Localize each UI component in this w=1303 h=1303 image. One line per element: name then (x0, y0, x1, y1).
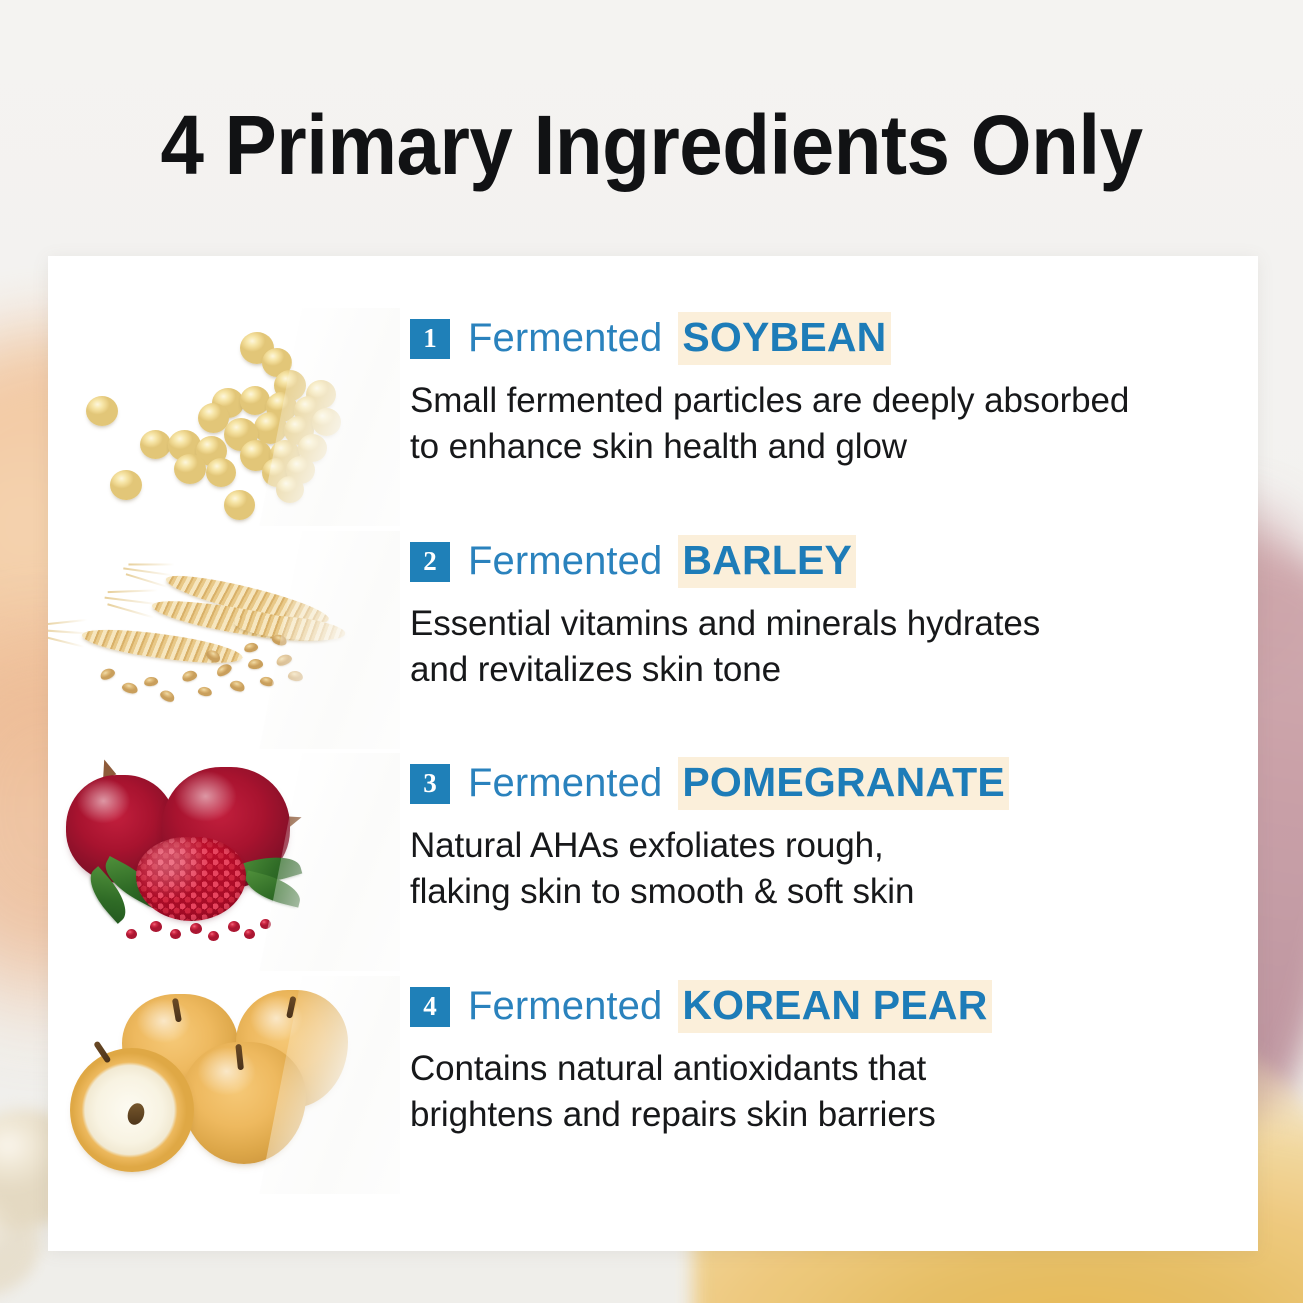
description-line-1: Essential vitamins and minerals hydrates (410, 601, 1258, 647)
ingredient-text-soybean: 1 Fermented SOYBEAN Small fermented part… (400, 308, 1258, 469)
ingredient-prefix: Fermented (468, 316, 662, 361)
ingredient-text-barley: 2 Fermented BARLEY Essential vitamins an… (400, 531, 1258, 692)
pomegranate-photo (48, 753, 400, 971)
ingredient-description: Contains natural antioxidants that brigh… (410, 1046, 1258, 1137)
ingredient-name: SOYBEAN (678, 312, 890, 365)
ingredient-name: POMEGRANATE (678, 757, 1009, 810)
ingredient-row-barley: 2 Fermented BARLEY Essential vitamins an… (48, 531, 1258, 749)
ingredient-row-soybean: 1 Fermented SOYBEAN Small fermented part… (48, 308, 1258, 526)
ingredients-card: 1 Fermented SOYBEAN Small fermented part… (48, 256, 1258, 1251)
page-title: 4 Primary Ingredients Only (46, 103, 1258, 187)
ingredient-number-badge: 1 (410, 319, 450, 359)
ingredient-row-korean-pear: 4 Fermented KOREAN PEAR Contains natural… (48, 976, 1258, 1194)
description-line-2: flaking skin to smooth & soft skin (410, 869, 1258, 915)
ingredient-number-badge: 2 (410, 542, 450, 582)
ingredient-heading: 1 Fermented SOYBEAN (410, 312, 1258, 365)
ingredient-name: BARLEY (678, 535, 856, 588)
ingredient-number-badge: 3 (410, 764, 450, 804)
korean-pear-photo (48, 976, 400, 1194)
description-line-2: to enhance skin health and glow (410, 424, 1258, 470)
description-line-2: and revitalizes skin tone (410, 647, 1258, 693)
ingredient-heading: 3 Fermented POMEGRANATE (410, 757, 1258, 810)
description-line-1: Small fermented particles are deeply abs… (410, 378, 1258, 424)
ingredient-text-pomegranate: 3 Fermented POMEGRANATE Natural AHAs exf… (400, 753, 1258, 914)
description-line-1: Contains natural antioxidants that (410, 1046, 1258, 1092)
ingredient-prefix: Fermented (468, 761, 662, 806)
ingredients-poster: 4 Primary Ingredients Only (0, 0, 1303, 1303)
ingredient-description: Small fermented particles are deeply abs… (410, 378, 1258, 469)
description-line-1: Natural AHAs exfoliates rough, (410, 823, 1258, 869)
ingredient-text-korean-pear: 4 Fermented KOREAN PEAR Contains natural… (400, 976, 1258, 1137)
description-line-2: brightens and repairs skin barriers (410, 1092, 1258, 1138)
ingredient-prefix: Fermented (468, 539, 662, 584)
ingredient-heading: 2 Fermented BARLEY (410, 535, 1258, 588)
ingredient-row-pomegranate: 3 Fermented POMEGRANATE Natural AHAs exf… (48, 753, 1258, 971)
ingredient-number-badge: 4 (410, 987, 450, 1027)
ingredient-description: Essential vitamins and minerals hydrates… (410, 601, 1258, 692)
ingredient-description: Natural AHAs exfoliates rough, flaking s… (410, 823, 1258, 914)
ingredient-heading: 4 Fermented KOREAN PEAR (410, 980, 1258, 1033)
soybeans-photo (48, 308, 400, 526)
background-blurred-soybean-3 (0, 1192, 40, 1296)
ingredient-prefix: Fermented (468, 984, 662, 1029)
ingredient-list: 1 Fermented SOYBEAN Small fermented part… (48, 256, 1258, 1251)
barley-stalks-photo (48, 531, 400, 749)
ingredient-name: KOREAN PEAR (678, 980, 991, 1033)
